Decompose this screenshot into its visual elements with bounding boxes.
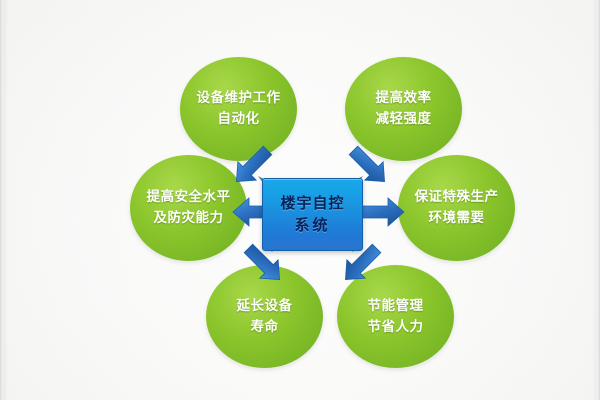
node-label-line2: 减轻强度 <box>376 109 432 130</box>
arrow-right-icon <box>360 192 404 232</box>
center-label-line1: 楼宇自控 <box>280 193 344 215</box>
node-label-line2: 环境需要 <box>429 208 485 229</box>
center-node-building-automation-system[interactable]: 楼宇自控 系统 <box>262 178 363 251</box>
diagram-canvas: 设备维护工作 自动化 提高效率 减轻强度 提高安全水平 及防灾能力 保证特殊生产… <box>0 0 600 400</box>
node-label-line1: 设备维护工作 <box>197 88 281 109</box>
node-label-line1: 提高效率 <box>376 88 432 109</box>
node-label-line2: 节省人力 <box>368 317 424 338</box>
node-label-line2: 及防灾能力 <box>154 208 224 229</box>
node-label-line1: 节能管理 <box>368 296 424 317</box>
node-special-production[interactable]: 保证特殊生产 环境需要 <box>398 155 515 261</box>
node-label-line1: 保证特殊生产 <box>415 187 499 208</box>
node-label-line2: 自动化 <box>218 109 260 130</box>
node-label-line1: 延长设备 <box>237 296 293 317</box>
center-label-line2: 系统 <box>294 215 330 237</box>
node-label-line2: 寿命 <box>251 317 279 338</box>
node-label-line1: 提高安全水平 <box>147 187 231 208</box>
